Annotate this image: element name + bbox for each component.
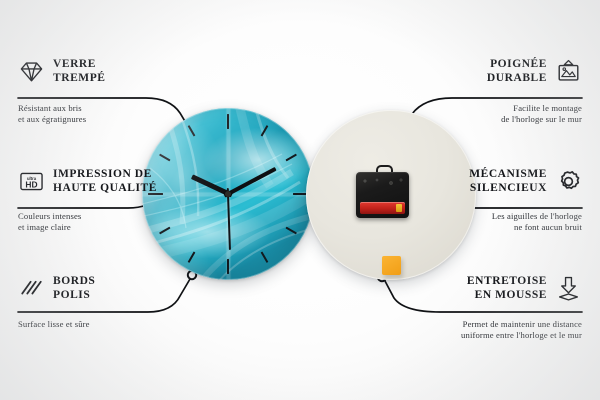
picture-hanger-icon <box>555 58 582 85</box>
feature-entretoise-en-mousse: ENTRETOISE EN MOUSSE Permet de maintenir… <box>372 275 582 340</box>
ultra-hd-icon: ultra HD <box>18 168 45 195</box>
feature-title-line2: DURABLE <box>487 72 547 86</box>
feature-title-line2: HAUTE QUALITÉ <box>53 182 157 196</box>
feature-title-line1: BORDS <box>53 275 95 289</box>
feature-desc-line2: et image claire <box>18 222 198 233</box>
feature-desc-line2: ne font aucun bruit <box>392 222 582 233</box>
feature-impression-haute-qualite: ultra HD IMPRESSION DE HAUTE QUALITÉ Cou… <box>18 168 198 232</box>
feature-desc-line1: Permet de maintenir une distance <box>372 319 582 330</box>
feature-poignee-durable: POIGNÉE DURABLE Facilite le montage de l… <box>402 58 582 124</box>
foam-spacer-icon <box>555 275 582 302</box>
feature-title-line1: MÉCANISME <box>469 168 547 182</box>
feature-desc-line1: Couleurs intenses <box>18 211 198 222</box>
infographic-canvas: VERRE TREMPÉ Résistant aux bris et aux é… <box>0 0 600 400</box>
feature-desc-line1: Surface lisse et sûre <box>18 319 198 330</box>
feature-desc-line1: Les aiguilles de l'horloge <box>392 211 582 222</box>
feature-title-line1: IMPRESSION DE <box>53 168 157 182</box>
gear-icon <box>555 168 582 195</box>
feature-title-line2: EN MOUSSE <box>467 289 547 303</box>
feature-desc-line1: Facilite le montage <box>402 103 582 114</box>
diamond-icon <box>18 58 45 85</box>
feature-title-line2: POLIS <box>53 289 95 303</box>
feature-mecanisme-silencieux: MÉCANISME SILENCIEUX Les aiguilles de l'… <box>392 168 582 232</box>
feature-verre-trempe: VERRE TREMPÉ Résistant aux bris et aux é… <box>18 58 198 124</box>
feature-desc-line2: et aux égratignures <box>18 114 198 125</box>
foam-spacer <box>382 256 401 275</box>
feature-title-line2: TREMPÉ <box>53 72 106 86</box>
polished-edges-icon <box>18 275 45 302</box>
svg-text:HD: HD <box>25 179 37 189</box>
feature-desc-line2: uniforme entre l'horloge et le mur <box>372 330 582 341</box>
feature-title-line1: VERRE <box>53 58 106 72</box>
feature-desc-line1: Résistant aux bris <box>18 103 198 114</box>
feature-title-line1: ENTRETOISE <box>467 275 547 289</box>
feature-bords-polis: BORDS POLIS Surface lisse et sûre <box>18 275 198 330</box>
feature-title-line1: POIGNÉE <box>487 58 547 72</box>
feature-desc-line2: de l'horloge sur le mur <box>402 114 582 125</box>
hands-cap <box>225 191 231 197</box>
feature-title-line2: SILENCIEUX <box>469 182 547 196</box>
